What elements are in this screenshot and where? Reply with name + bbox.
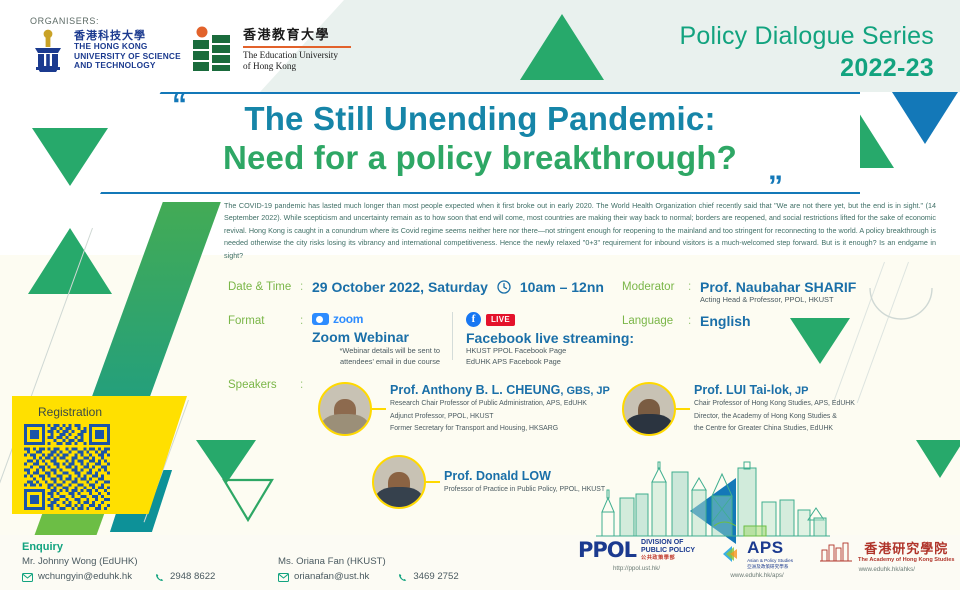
ahks-text-block: 香港研究學院 The Academy of Hong Kong Studies <box>858 538 954 563</box>
language-label: Language <box>622 315 673 327</box>
speaker-info-3: Prof. Donald LOW Professor of Practice i… <box>440 469 605 495</box>
page-title: The Still Unending Pandemic: Need for a … <box>120 100 840 178</box>
speaker-affiliation-3-1: Professor of Practice in Public Policy, … <box>444 485 605 495</box>
decor-triangle-down-green-mid <box>790 318 850 364</box>
eduhk-logo-text: 香港教育大學 The Education University of Hong … <box>243 28 351 71</box>
ppol-wordmark: PPOL <box>578 538 636 562</box>
eduhk-divider <box>243 46 351 48</box>
facebook-page-1: HKUST PPOL Facebook Page <box>466 346 634 357</box>
contact-person-1: Mr. Johnny Wong (EdUHK) <box>22 554 215 569</box>
facebook-streaming-title: Facebook live streaming: <box>466 330 634 346</box>
contact-email-1: wchungyin@eduhk.hk <box>38 569 132 584</box>
aps-text-block: APS Asian & Policy Studies 亞洲及政策研究學系 <box>747 538 793 569</box>
ppol-subtitle: DIVISION OF PUBLIC POLICY 公共政策學部 <box>641 539 695 561</box>
ahks-url[interactable]: www.eduhk.hk/ahks/ <box>819 566 954 573</box>
phone-icon <box>397 573 408 582</box>
logo-hkust: 香港科技大學 THE HONG KONG UNIVERSITY OF SCIEN… <box>30 28 181 72</box>
speaker-connector-2 <box>676 408 690 410</box>
format-colon: : <box>300 315 303 327</box>
avatar-body <box>322 414 368 436</box>
moderator-label: Moderator <box>622 281 674 293</box>
speakers-colon: : <box>300 379 303 391</box>
facebook-icon: f <box>466 312 481 327</box>
speaker-name-1: Prof. Anthony B. L. CHEUNG, GBS, JP <box>390 383 610 397</box>
poster-canvas: ORGANISERS: 香港科技大學 THE HONG KONG UNIVERS… <box>0 0 960 590</box>
facebook-logo-row: f LIVE <box>466 312 634 327</box>
avatar-body <box>626 414 672 436</box>
abstract-text: The COVID-19 pandemic has lasted much lo… <box>224 200 936 262</box>
speaker-affiliation-2-3: the Centre for Greater China Studies, Ed… <box>694 424 855 434</box>
ppol-logo-row: PPOL DIVISION OF PUBLIC POLICY 公共政策學部 <box>578 538 695 562</box>
speaker-avatar-3 <box>372 455 426 509</box>
format-label: Format <box>228 315 264 327</box>
datetime-label: Date & Time <box>228 281 291 293</box>
registration-qr-code[interactable] <box>24 424 110 510</box>
speaker-avatar-2 <box>622 382 676 436</box>
ahks-logo-row: 香港研究學院 The Academy of Hong Kong Studies <box>819 538 954 563</box>
footer-logo-ppol: PPOL DIVISION OF PUBLIC POLICY 公共政策學部 ht… <box>578 538 695 572</box>
contact-email-2: orianafan@ust.hk <box>294 569 369 584</box>
eduhk-name-en-2: of Hong Kong <box>243 61 351 72</box>
hkust-emblem-icon <box>30 28 66 72</box>
speaker-affiliation-2-1: Chair Professor of Hong Kong Studies, AP… <box>694 399 855 409</box>
live-badge: LIVE <box>486 314 515 326</box>
speaker-card-1: Prof. Anthony B. L. CHEUNG, GBS, JP Rese… <box>318 382 618 436</box>
ahks-name-en: The Academy of Hong Kong Studies <box>858 557 954 563</box>
zoom-camera-icon <box>312 313 329 325</box>
contact-phone-row-2: 3469 2752 <box>397 569 458 584</box>
datetime-value-group: 29 October 2022, Saturday 10am – 12nn <box>312 279 604 295</box>
footer-logo-group: PPOL DIVISION OF PUBLIC POLICY 公共政策學部 ht… <box>578 538 955 579</box>
contact-phone-row-1: 2948 8622 <box>154 569 215 584</box>
enquiry-title: Enquiry <box>22 541 63 553</box>
zoom-brand-text: zoom <box>333 312 363 326</box>
speaker-name-3: Prof. Donald LOW <box>444 469 605 483</box>
contact-email-row-2[interactable]: orianafan@ust.hk <box>278 569 369 584</box>
speaker-affiliation-1-3: Former Secretary for Transport and Housi… <box>390 424 610 434</box>
speaker-card-2: Prof. LUI Tai-lok, JP Chair Professor of… <box>622 382 932 436</box>
phone-icon <box>154 573 165 582</box>
moderator-colon: : <box>688 281 691 293</box>
hkust-name-en-3: AND TECHNOLOGY <box>74 61 181 70</box>
format-facebook-block: f LIVE Facebook live streaming: HKUST PP… <box>466 312 634 367</box>
speaker-affiliation-1-1: Research Chair Professor of Public Admin… <box>390 399 610 409</box>
moderator-name: Prof. Naubahar SHARIF <box>700 279 856 295</box>
eduhk-emblem-icon <box>190 26 234 74</box>
registration-title: Registration <box>38 405 102 419</box>
datetime-colon: : <box>300 281 303 293</box>
decor-triangle-up-green-left <box>28 228 112 294</box>
series-title: Policy Dialogue Series <box>679 22 934 51</box>
decor-triangle-outline-green <box>222 478 274 522</box>
decor-triangle-down-green-far-right <box>916 440 960 478</box>
mail-icon <box>278 573 289 582</box>
hkust-logo-text: 香港科技大學 THE HONG KONG UNIVERSITY OF SCIEN… <box>74 30 181 70</box>
mail-icon <box>22 573 33 582</box>
avatar-body <box>376 487 422 509</box>
language-value: English <box>700 313 751 329</box>
speaker-info-1: Prof. Anthony B. L. CHEUNG, GBS, JP Rese… <box>386 383 610 434</box>
moderator-value-group: Prof. Naubahar SHARIF Acting Head & Prof… <box>700 279 856 306</box>
ahks-name-cn: 香港研究學院 <box>858 538 954 557</box>
ppol-url[interactable]: http://ppol.ust.hk/ <box>578 565 695 572</box>
hong-kong-skyline-illustration <box>594 460 832 538</box>
ahks-skyline-emblem-icon <box>819 540 853 562</box>
quote-close-mark: ” <box>768 178 783 196</box>
contact-phone-1: 2948 8622 <box>170 569 215 584</box>
speaker-connector-1 <box>372 408 386 410</box>
zoom-logo: zoom <box>312 312 440 326</box>
aps-url[interactable]: www.eduhk.hk/aps/ <box>721 572 793 579</box>
speaker-info-2: Prof. LUI Tai-lok, JP Chair Professor of… <box>690 383 855 434</box>
format-divider <box>452 312 453 360</box>
title-line-2: Need for a policy breakthrough? <box>120 139 840 178</box>
aps-logo-row: APS Asian & Policy Studies 亞洲及政策研究學系 <box>721 538 793 569</box>
contact-details-2: orianafan@ust.hk 3469 2752 <box>278 569 459 584</box>
speaker-connector-3 <box>426 481 440 483</box>
contact-phone-2: 3469 2752 <box>413 569 458 584</box>
contact-block-1: Mr. Johnny Wong (EdUHK) wchungyin@eduhk.… <box>22 554 215 585</box>
datetime-value: 29 October 2022, Saturday <box>312 279 488 295</box>
zoom-webinar-title: Zoom Webinar <box>312 329 440 345</box>
speaker-avatar-1 <box>318 382 372 436</box>
organisers-label: ORGANISERS: <box>30 16 99 26</box>
aps-wordmark: APS <box>747 538 793 558</box>
time-value: 10am – 12nn <box>520 279 604 295</box>
aps-emblem-icon <box>721 544 743 564</box>
speaker-name-2: Prof. LUI Tai-lok, JP <box>694 383 855 397</box>
decor-arc-outline <box>866 286 936 348</box>
speakers-label: Speakers <box>228 379 277 391</box>
contact-block-2: Ms. Oriana Fan (HKUST) orianafan@ust.hk … <box>278 554 459 585</box>
speaker-affiliation-1-2: Adjunct Professor, PPOL, HKUST <box>390 412 610 422</box>
eduhk-name-en-1: The Education University <box>243 50 351 61</box>
contact-person-2: Ms. Oriana Fan (HKUST) <box>278 554 459 569</box>
clock-icon <box>497 280 511 294</box>
format-zoom-block: zoom Zoom Webinar *Webinar details will … <box>312 312 440 367</box>
title-line-1: The Still Unending Pandemic: <box>120 100 840 139</box>
speaker-affiliation-2-2: Director, the Academy of Hong Kong Studi… <box>694 412 855 422</box>
decor-triangle-down-blue-right <box>892 92 958 144</box>
zoom-webinar-note: *Webinar details will be sent to attende… <box>312 346 440 367</box>
contact-details-1: wchungyin@eduhk.hk 2948 8622 <box>22 569 215 584</box>
moderator-affiliation: Acting Head & Professor, PPOL, HKUST <box>700 295 856 306</box>
facebook-page-2: EdUHK APS Facebook Page <box>466 357 634 368</box>
eduhk-name-cn: 香港教育大學 <box>243 28 351 44</box>
logo-eduhk: 香港教育大學 The Education University of Hong … <box>190 26 351 74</box>
language-colon: : <box>688 315 691 327</box>
contact-email-row-1[interactable]: wchungyin@eduhk.hk <box>22 569 132 584</box>
footer-logo-ahks: 香港研究學院 The Academy of Hong Kong Studies … <box>819 538 954 573</box>
footer-logo-aps: APS Asian & Policy Studies 亞洲及政策研究學系 www… <box>721 538 793 579</box>
decor-triangle-up-green-top <box>520 14 604 80</box>
series-year: 2022-23 <box>840 54 934 83</box>
decor-triangle-down-green-left <box>32 128 108 186</box>
